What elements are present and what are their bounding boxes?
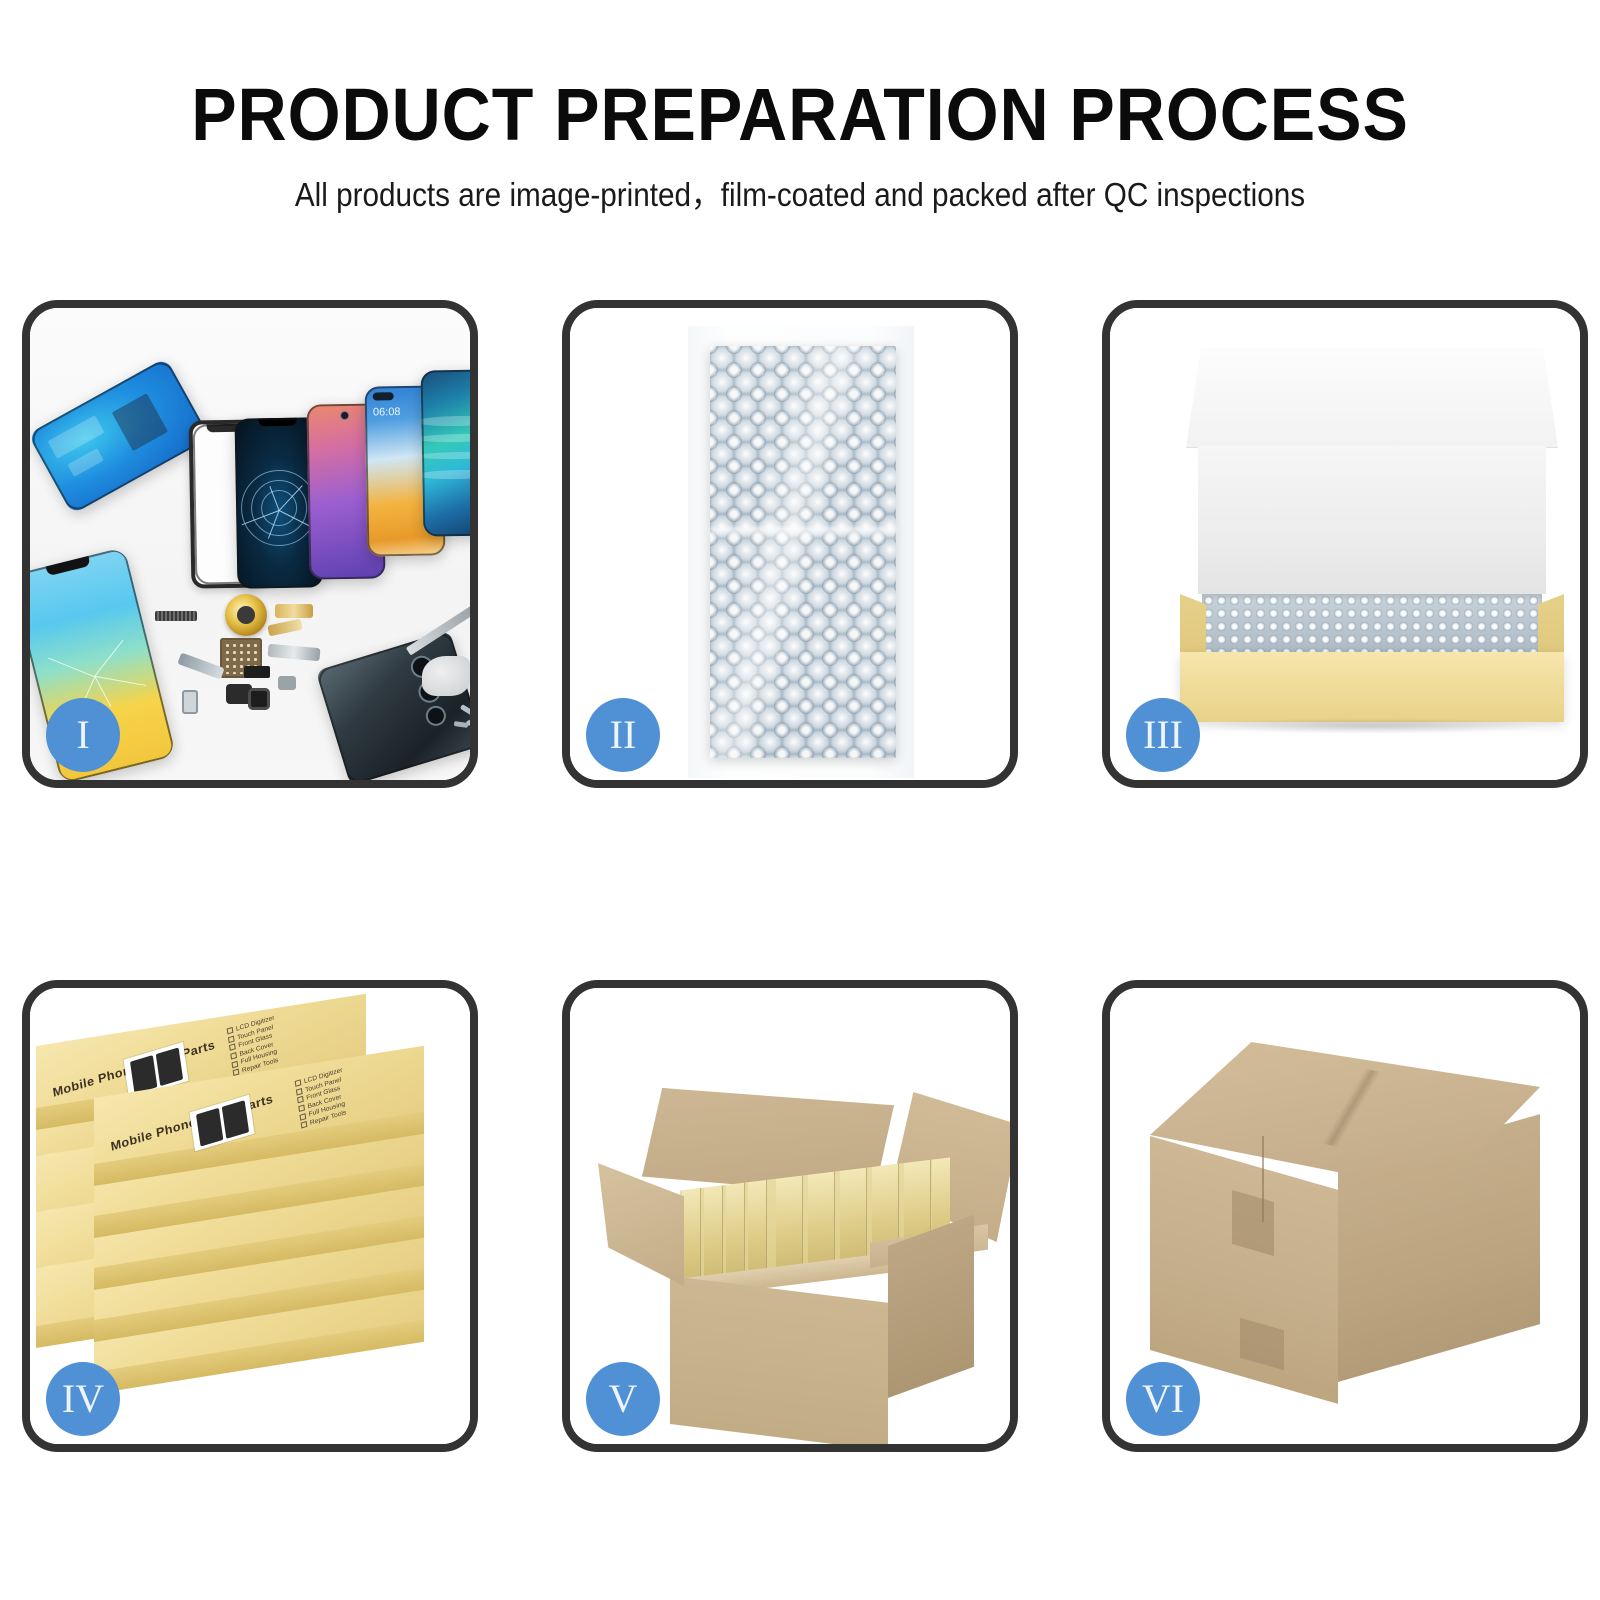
header: PRODUCT PREPARATION PROCESS All products…: [0, 0, 1600, 250]
cleaning-brush-icon: [422, 656, 470, 696]
step-badge-1: I: [46, 698, 120, 772]
component-wireless-coil: [225, 594, 267, 636]
carton-right-panel: [888, 1215, 974, 1398]
step-panel-5: V: [562, 980, 1018, 1452]
step-panel-6: VI: [1102, 980, 1588, 1452]
mailer-box-front-panel: [1180, 652, 1564, 722]
component-shield-cap: [244, 666, 270, 678]
bubble-wrap-package: [710, 346, 896, 758]
component-connector: [278, 676, 296, 690]
step-panel-2: II: [562, 300, 1018, 788]
component-flex-cable-a: [275, 604, 313, 618]
step-panel-4: Mobile Phone Spare Parts LCD Digitizer T…: [22, 980, 478, 1452]
mailer-box-lid: [1186, 348, 1558, 448]
teal-phone: [421, 369, 470, 536]
step-badge-3: III: [1126, 698, 1200, 772]
mailer-box-shadow: [1196, 718, 1548, 734]
mailer-box-interior: [1198, 446, 1546, 594]
page-title: PRODUCT PREPARATION PROCESS: [64, 78, 1536, 152]
page-subtitle: All products are image-printed，film-coat…: [80, 168, 1520, 216]
component-camera-module: [248, 688, 270, 710]
step-badge-2: II: [586, 698, 660, 772]
step-panel-1: 06:08: [22, 300, 478, 788]
step-badge-4: IV: [46, 1362, 120, 1436]
phone-clock-label: 06:08: [373, 406, 401, 418]
bubble-wrapped-item-in-box: [1202, 594, 1542, 652]
step-panel-3: III: [1102, 300, 1588, 788]
component-sim-tray: [182, 690, 198, 714]
step-badge-5: V: [586, 1362, 660, 1436]
carton-front-panel: [670, 1276, 888, 1444]
step-badge-6: VI: [1126, 1362, 1200, 1436]
component-connector-strip: [155, 611, 197, 621]
